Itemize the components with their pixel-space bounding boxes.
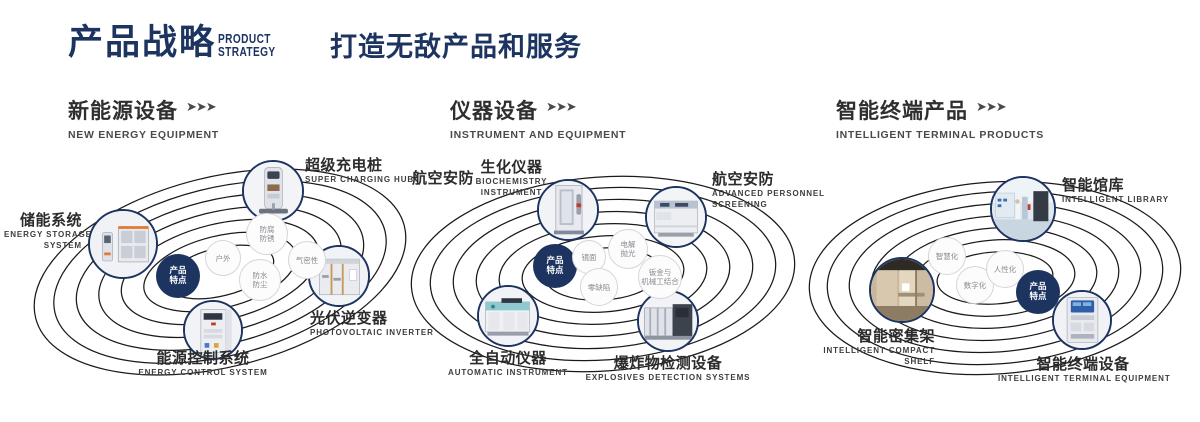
node-label-cn: 储能系统 (4, 212, 82, 229)
core-line-1: 产品 (1029, 282, 1046, 292)
feature-label-line1: 钣金与 (649, 268, 672, 277)
charging-pile-photo (244, 162, 302, 220)
feature-label: 数字化 (964, 281, 987, 290)
library-interior-photo (992, 178, 1054, 240)
node-label-cn: 超级充电桩 (305, 157, 414, 174)
chevron-triple-icon: ➤➤➤ (546, 99, 576, 115)
section-title-cn: 仪器设备 (450, 95, 538, 125)
node-energy-storage-system[interactable] (88, 209, 158, 279)
node-label-cn: 能源控制系统 (93, 350, 313, 367)
core-line-2: 特点 (546, 266, 563, 276)
feature-label-line2: 防锈 (260, 234, 275, 243)
section-title-cn: 新能源设备 (68, 95, 178, 125)
compact-shelf-photo (871, 259, 933, 321)
page-title: 产品战略 (68, 26, 216, 61)
node-intelligent-library[interactable] (990, 176, 1056, 242)
node-label-en: AUTOMATIC INSTRUMENT (418, 368, 598, 378)
core-line-1: 产品 (169, 266, 186, 276)
node-label-cn: 智能密集架 (790, 328, 935, 345)
feature-label-line2: 机械工结合 (641, 277, 679, 286)
node-label-en: EXPLOSIVES DETECTION SYSTEMS (573, 373, 763, 383)
battery-cabinet-photo (90, 211, 156, 277)
section-title-cn: 智能终端产品 (836, 95, 968, 125)
feature-label-line2: 抛光 (621, 249, 636, 258)
node-label-en-line2: INSTRUMENT (419, 188, 604, 198)
node-label-en: SUPER CHARGING HUB (305, 175, 414, 185)
feature-label: 智慧化 (936, 252, 959, 261)
node-label-en: INTELLIGENT TERMINAL EQUIPMENT (998, 374, 1168, 384)
label-energy-control-system: 能源控制系统 ENERGY CONTROL SYSTEM (93, 350, 313, 378)
bubble-feature-airtightness[interactable]: 气密性 (288, 241, 326, 279)
label-super-charging-hub: 超级充电桩 SUPER CHARGING HUB (305, 157, 414, 185)
node-label-en-line2: SYSTEM (4, 241, 82, 251)
label-explosives-detection-systems: 爆炸物检测设备 EXPLOSIVES DETECTION SYSTEMS (573, 355, 763, 383)
label-intelligent-terminal-equipment: 智能终端设备 INTELLIGENT TERMINAL EQUIPMENT (998, 356, 1168, 384)
screening-machine-photo (647, 188, 705, 246)
automatic-instrument-photo (479, 287, 537, 345)
cluster-new-energy: 储能系统 ENERGY STORAGE SYSTEM 超级充电桩 SUPER C… (20, 150, 420, 400)
page-title-english: PRODUCT STRATEGY (218, 32, 276, 58)
core-line-2: 特点 (169, 276, 186, 286)
node-label-en-line1: INTELLIGENT COMPACT (790, 346, 935, 356)
bubble-feature-sheetmetal-machining[interactable]: 钣金与 机械工结合 (638, 255, 682, 299)
label-biochemistry-instrument: 生化仪器 BIOCHEMISTRY INSTRUMENT (419, 159, 604, 198)
node-advanced-personnel-screening[interactable] (645, 186, 707, 248)
feature-label: 气密性 (296, 256, 319, 265)
bubble-feature-outdoor[interactable]: 户外 (205, 240, 241, 276)
label-intelligent-compact-shelf: 智能密集架 INTELLIGENT COMPACT SHELF (790, 328, 935, 367)
feature-label: 户外 (216, 254, 231, 263)
section-heading-instrument: 仪器设备➤➤➤ INSTRUMENT AND EQUIPMENT (450, 95, 626, 141)
node-label-cn: 全自动仪器 (418, 350, 598, 367)
bubble-feature-zero-defect[interactable]: 零缺陷 (580, 268, 618, 306)
bubble-feature-anticorrosion[interactable]: 防腐 防锈 (246, 213, 288, 255)
core-line-2: 特点 (1029, 292, 1046, 302)
bubble-feature-waterproof-dustproof[interactable]: 防水 防尘 (239, 259, 281, 301)
node-intelligent-terminal-equipment[interactable] (1052, 290, 1112, 350)
label-intelligent-library: 智能馆库 INTELLIGENT LIBRARY (1062, 177, 1169, 205)
node-super-charging-hub[interactable] (242, 160, 304, 222)
title-en-line-2: STRATEGY (218, 45, 276, 58)
label-automatic-instrument: 全自动仪器 AUTOMATIC INSTRUMENT (418, 350, 598, 378)
chevron-triple-icon: ➤➤➤ (976, 99, 1006, 115)
bubble-feature-intelligent[interactable]: 智慧化 (928, 237, 966, 275)
node-label-en-line1: BIOCHEMISTRY (419, 177, 604, 187)
bubble-core-product-features[interactable]: 产品 特点 (533, 244, 577, 288)
feature-label: 镜面 (582, 253, 597, 262)
section-heading-intelligent-terminal: 智能终端产品➤➤➤ INTELLIGENT TERMINAL PRODUCTS (836, 95, 1044, 141)
feature-label-line1: 电解 (621, 240, 636, 249)
page-header: 产品战略 PRODUCT STRATEGY 打造无敌产品和服务 (0, 0, 1200, 88)
feature-label-line1: 防腐 (260, 225, 275, 234)
node-label-cn: 爆炸物检测设备 (573, 355, 763, 372)
page-slogan: 打造无敌产品和服务 (330, 34, 582, 61)
node-label-cn: 智能馆库 (1062, 177, 1169, 194)
section-title-en: NEW ENERGY EQUIPMENT (68, 129, 219, 141)
bubble-core-product-features[interactable]: 产品 特点 (1016, 270, 1060, 314)
bubble-core-product-features[interactable]: 产品 特点 (156, 254, 200, 298)
feature-label-line2: 防尘 (253, 280, 268, 289)
node-label-cn: 智能终端设备 (998, 356, 1168, 373)
feature-label: 人性化 (994, 265, 1017, 274)
node-label-en: ENERGY CONTROL SYSTEM (93, 368, 313, 378)
chevron-triple-icon: ➤➤➤ (186, 99, 216, 115)
node-label-en-line2: SHELF (790, 357, 935, 367)
node-label-en: INTELLIGENT LIBRARY (1062, 195, 1169, 205)
cluster-intelligent-terminal: 智能馆库 INTELLIGENT LIBRARY 智能密集架 INTELLIGE… (800, 150, 1200, 400)
section-title-en: INSTRUMENT AND EQUIPMENT (450, 129, 626, 141)
node-intelligent-compact-shelf[interactable] (869, 257, 935, 323)
label-energy-storage-system: 储能系统 ENERGY STORAGE SYSTEM (4, 212, 82, 251)
section-heading-new-energy: 新能源设备➤➤➤ NEW ENERGY EQUIPMENT (68, 95, 219, 141)
explosives-detector-photo (639, 292, 697, 350)
feature-label: 零缺陷 (588, 283, 611, 292)
node-label-en-line1: ENERGY STORAGE (4, 230, 82, 240)
cluster-instrument: 航空安防 生化仪器 BIOCHEMISTRY INSTRUMENT (405, 150, 805, 400)
section-title-en: INTELLIGENT TERMINAL PRODUCTS (836, 129, 1044, 141)
node-explosives-detection-systems[interactable] (637, 290, 699, 352)
kiosk-terminal-photo (1054, 292, 1110, 348)
core-line-1: 产品 (546, 256, 563, 266)
node-automatic-instrument[interactable] (477, 285, 539, 347)
feature-label-line1: 防水 (253, 271, 268, 280)
node-label-cn: 生化仪器 (419, 159, 604, 176)
